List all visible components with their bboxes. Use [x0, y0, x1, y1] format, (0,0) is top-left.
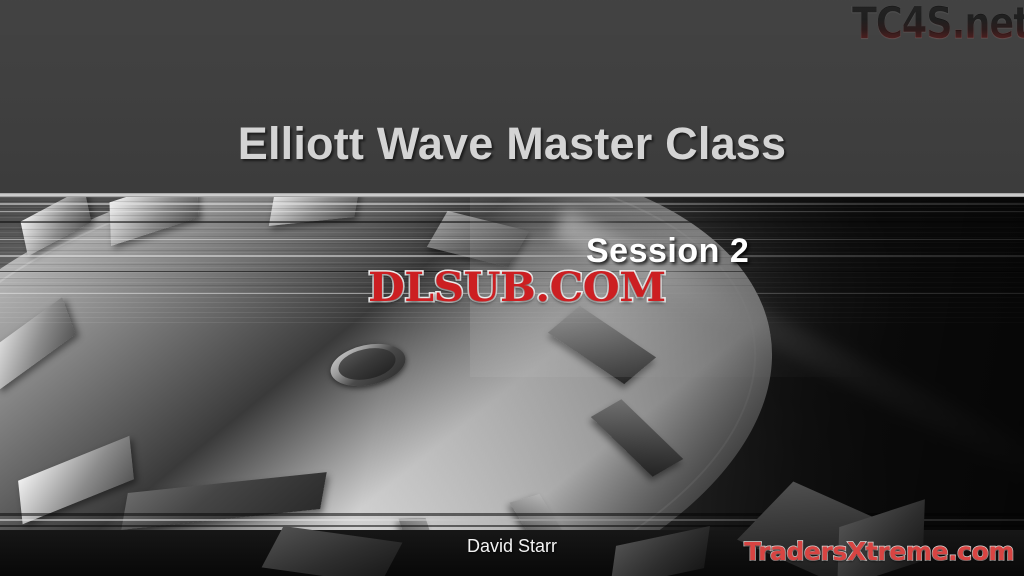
- tradersxtreme-brand-logo: TradersXtreme.com: [744, 537, 1014, 566]
- dlsub-watermark: DLSUB.COM: [368, 264, 666, 311]
- presentation-slide: Elliott Wave Master Class TC4S.net Sessi…: [0, 0, 1024, 576]
- page-title: Elliott Wave Master Class: [0, 118, 1024, 170]
- tc4s-brand-logo: TC4S.net: [852, 0, 1024, 49]
- title-band: Elliott Wave Master Class TC4S.net: [0, 0, 1024, 194]
- slide-artwork: [0, 197, 1024, 576]
